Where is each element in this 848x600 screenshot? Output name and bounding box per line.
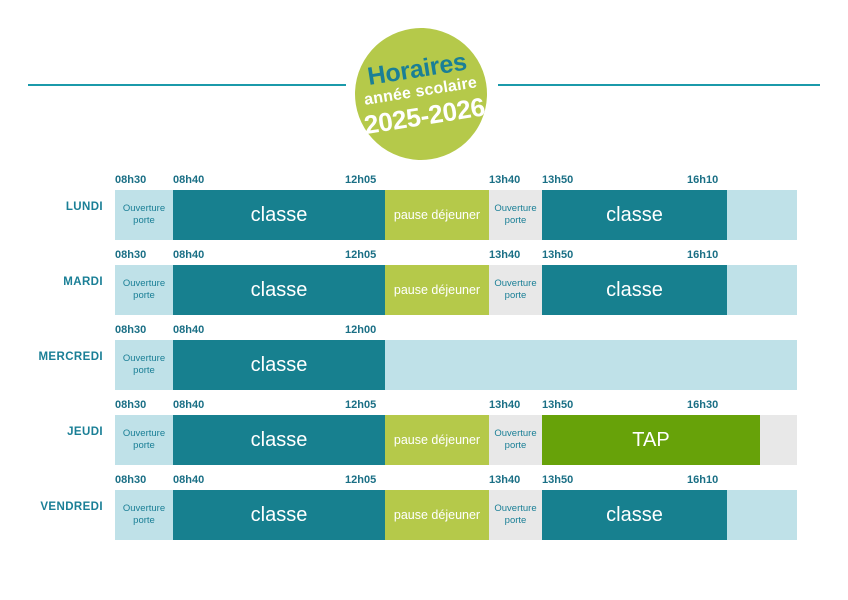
schedule-segment-classe: classe: [173, 340, 385, 390]
schedule-segment-filler-cyan: [727, 265, 797, 315]
time-tick: 08h40: [173, 399, 204, 411]
day-label-mercredi: MERCREDI: [0, 351, 103, 363]
time-tick: 08h30: [115, 249, 146, 261]
schedule-segment-pause: pause déjeuner: [385, 265, 489, 315]
schedule-segment-classe: classe: [542, 265, 727, 315]
schedule-row: VENDREDI08h3008h4012h0513h4013h5016h10Ou…: [0, 470, 848, 545]
schedule-segment-filler-cyan: [727, 190, 797, 240]
day-label-jeudi: JEUDI: [0, 426, 103, 438]
horaires-badge: Horaires année scolaire 2025-2026: [345, 18, 496, 169]
schedule-segment-ouverture-a: Ouverture porte: [115, 490, 173, 540]
schedule-segment-classe: classe: [173, 415, 385, 465]
time-tick: 13h40: [489, 474, 520, 486]
weekly-schedule: LUNDI08h3008h4012h0513h4013h5016h10Ouver…: [0, 170, 848, 545]
schedule-segment-filler-gray: [760, 415, 797, 465]
time-tick: 08h40: [173, 174, 204, 186]
schedule-segment-ouverture-a: Ouverture porte: [115, 265, 173, 315]
schedule-segment-ouverture-a: Ouverture porte: [115, 340, 173, 390]
schedule-segment-filler-cyan: [385, 340, 797, 390]
day-track: 08h3008h4012h0513h4013h5016h30Ouverture …: [115, 395, 848, 470]
time-tick: 16h10: [687, 474, 718, 486]
schedule-segment-classe: classe: [173, 490, 385, 540]
time-tick: 08h30: [115, 174, 146, 186]
time-tick: 13h40: [489, 399, 520, 411]
time-tick: 12h05: [345, 249, 376, 261]
schedule-segment-ouverture-b: Ouverture porte: [489, 490, 542, 540]
schedule-row: LUNDI08h3008h4012h0513h4013h5016h10Ouver…: [0, 170, 848, 245]
time-tick: 08h40: [173, 324, 204, 336]
day-label-mardi: MARDI: [0, 276, 103, 288]
schedule-segment-ouverture-a: Ouverture porte: [115, 415, 173, 465]
day-track: 08h3008h4012h0513h4013h5016h10Ouverture …: [115, 470, 848, 545]
schedule-segment-ouverture-b: Ouverture porte: [489, 190, 542, 240]
day-track: 08h3008h4012h00Ouverture porteclasse: [115, 320, 848, 395]
time-tick: 13h50: [542, 174, 573, 186]
schedule-segment-classe: classe: [542, 190, 727, 240]
time-tick: 08h30: [115, 399, 146, 411]
header-banner: Horaires année scolaire 2025-2026: [0, 0, 848, 170]
time-tick: 08h40: [173, 474, 204, 486]
time-tick: 13h40: [489, 249, 520, 261]
time-tick: 13h40: [489, 174, 520, 186]
schedule-row: JEUDI08h3008h4012h0513h4013h5016h30Ouver…: [0, 395, 848, 470]
schedule-segment-pause: pause déjeuner: [385, 490, 489, 540]
schedule-row: MARDI08h3008h4012h0513h4013h5016h10Ouver…: [0, 245, 848, 320]
time-tick: 16h10: [687, 174, 718, 186]
schedule-segment-classe: classe: [542, 490, 727, 540]
time-tick: 12h05: [345, 399, 376, 411]
day-track: 08h3008h4012h0513h4013h5016h10Ouverture …: [115, 170, 848, 245]
time-tick: 08h40: [173, 249, 204, 261]
time-tick: 08h30: [115, 474, 146, 486]
schedule-segment-classe: classe: [173, 265, 385, 315]
header-rule-right: [498, 84, 820, 86]
day-label-vendredi: VENDREDI: [0, 501, 103, 513]
time-tick: 16h30: [687, 399, 718, 411]
day-track: 08h3008h4012h0513h4013h5016h10Ouverture …: [115, 245, 848, 320]
time-tick: 13h50: [542, 474, 573, 486]
time-tick: 13h50: [542, 399, 573, 411]
time-tick: 12h00: [345, 324, 376, 336]
schedule-segment-ouverture-b: Ouverture porte: [489, 265, 542, 315]
schedule-segment-tap: TAP: [542, 415, 760, 465]
day-label-lundi: LUNDI: [0, 201, 103, 213]
time-tick: 08h30: [115, 324, 146, 336]
schedule-row: MERCREDI08h3008h4012h00Ouverture portecl…: [0, 320, 848, 395]
schedule-segment-ouverture-a: Ouverture porte: [115, 190, 173, 240]
schedule-segment-pause: pause déjeuner: [385, 415, 489, 465]
time-tick: 13h50: [542, 249, 573, 261]
time-tick: 12h05: [345, 174, 376, 186]
schedule-segment-filler-cyan: [727, 490, 797, 540]
schedule-segment-pause: pause déjeuner: [385, 190, 489, 240]
time-tick: 16h10: [687, 249, 718, 261]
schedule-segment-ouverture-b: Ouverture porte: [489, 415, 542, 465]
time-tick: 12h05: [345, 474, 376, 486]
header-rule-left: [28, 84, 346, 86]
schedule-segment-classe: classe: [173, 190, 385, 240]
